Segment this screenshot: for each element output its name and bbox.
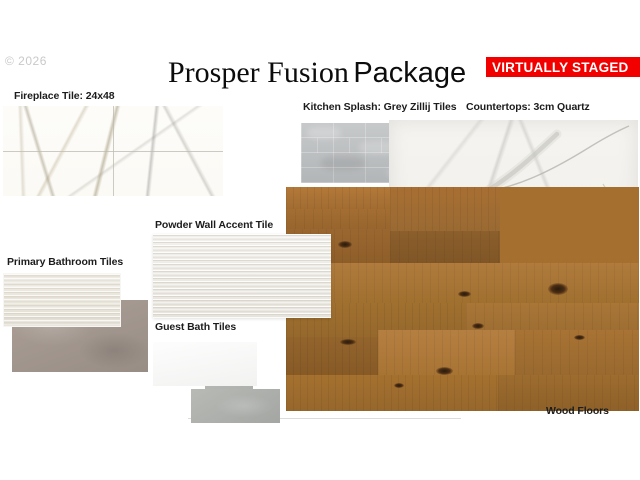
swatch-wood-floors xyxy=(286,187,639,411)
page-title-sans: Package xyxy=(353,57,466,89)
wood-knot xyxy=(458,291,471,297)
wood-plank xyxy=(390,231,500,267)
tile-texture-blotch xyxy=(321,156,365,170)
swatch-guest-bath-grey-tile-lower xyxy=(191,389,280,423)
tile-grout-horizontal xyxy=(3,151,223,152)
wood-plank xyxy=(286,187,390,209)
label-guest-bath-tiles: Guest Bath Tiles xyxy=(155,321,236,333)
page-title: Prosper Fusion Package xyxy=(168,58,466,88)
wood-knot xyxy=(548,283,568,295)
copyright-watermark: © 2026 xyxy=(5,54,47,68)
wood-knot xyxy=(394,383,404,388)
wood-knot xyxy=(340,339,356,345)
label-kitchen-splash: Kitchen Splash: Grey Zillij Tiles xyxy=(303,101,456,113)
swatch-primary-bath-cream-tile xyxy=(3,273,121,327)
wood-plank xyxy=(286,337,378,375)
wood-knot xyxy=(338,241,352,248)
swatch-fireplace-tile xyxy=(3,106,223,196)
wood-plank xyxy=(286,209,390,229)
swatch-guest-bath-white-tile xyxy=(153,342,257,386)
label-primary-bathroom-tiles: Primary Bathroom Tiles xyxy=(7,256,123,268)
label-countertops: Countertops: 3cm Quartz xyxy=(466,101,590,113)
wood-plank xyxy=(390,187,500,231)
label-fireplace-tile: Fireplace Tile: 24x48 xyxy=(14,90,114,102)
label-powder-wall-accent: Powder Wall Accent Tile xyxy=(155,219,273,231)
wood-knot xyxy=(574,335,585,340)
swatch-powder-wall-accent-tile xyxy=(153,234,331,318)
status-badge-virtually-staged: VIRTUALLY STAGED xyxy=(486,57,640,77)
label-wood-floors: Wood Floors xyxy=(546,405,609,417)
wood-plank xyxy=(286,375,498,411)
page-title-serif: Prosper Fusion xyxy=(168,56,349,89)
wood-knot xyxy=(472,323,484,329)
tile-texture-blotch xyxy=(307,127,341,139)
wood-plank xyxy=(286,263,639,303)
design-package-board: © 2026 Prosper Fusion Package VIRTUALLY … xyxy=(0,0,640,480)
wood-knot xyxy=(436,367,453,375)
